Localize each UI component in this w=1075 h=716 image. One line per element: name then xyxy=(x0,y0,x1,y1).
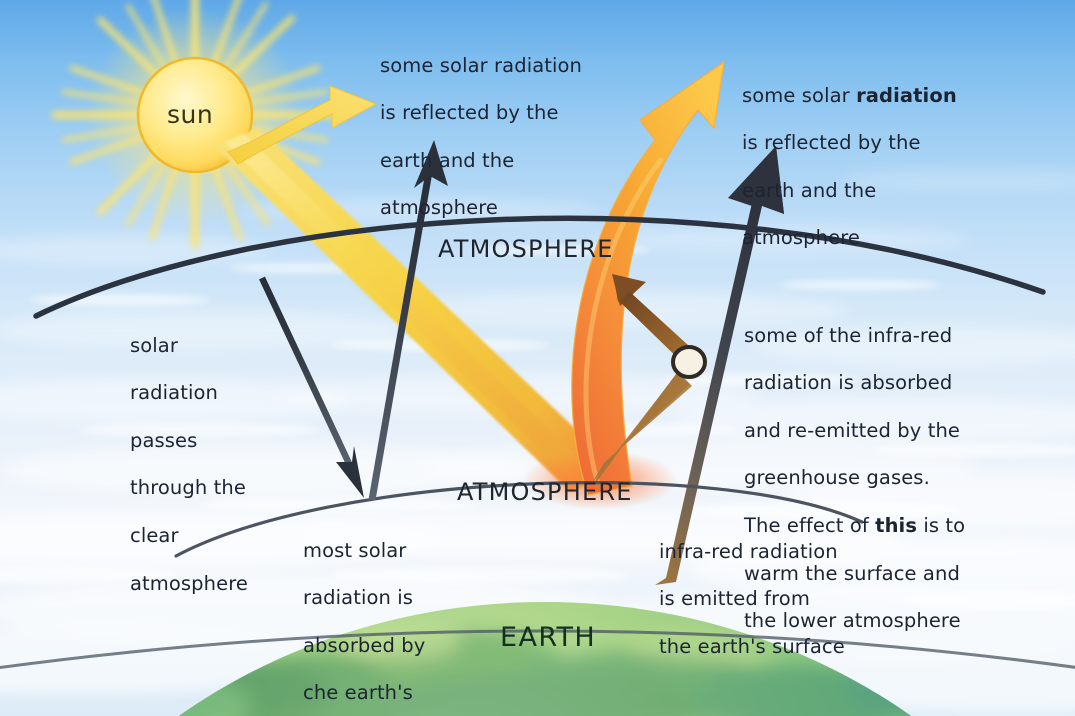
annotation-reflected-left-line1: some solar radiation xyxy=(380,54,582,78)
annotation-emitted-surface-line3: the earth's surface xyxy=(659,635,845,659)
solar-passes-down-arrow xyxy=(262,278,364,498)
greenhouse-effect-diagram: some solar radiation is reflected by the… xyxy=(0,0,1075,716)
annotation-passes-through: solar radiation passes through the clear… xyxy=(130,310,248,619)
annotation-reflected-right-line4: atmosphere xyxy=(742,226,957,250)
annotation-passes-through-line4: through the xyxy=(130,476,248,500)
annotation-reflected-right-emphasis: radiation xyxy=(856,84,957,107)
annotation-reflected-right-line3: earth and the xyxy=(742,179,957,203)
annotation-passes-through-line1: solar xyxy=(130,334,248,358)
lower-atmosphere-label: ATMOSPHERE xyxy=(457,478,633,507)
annotation-reflected-left: some solar radiation is reflected by the… xyxy=(380,30,582,244)
annotation-reflected-right-line2: is reflected by the xyxy=(742,131,957,155)
earth-label: EARTH xyxy=(500,622,596,655)
annotation-greenhouse-gases-line2: radiation is absorbed xyxy=(744,371,965,395)
annotation-reflected-left-line3: earth and the xyxy=(380,149,582,173)
sun-label: sun xyxy=(167,100,213,131)
annotation-emitted-surface-line2: is emitted from xyxy=(659,587,845,611)
annotation-emitted-surface-line1: infra-red radiation xyxy=(659,540,845,564)
annotation-reflected-left-line4: atmosphere xyxy=(380,196,582,220)
annotation-greenhouse-gases-line5-post: is to xyxy=(917,514,965,537)
annotation-emitted-surface: infra-red radiation is emitted from the … xyxy=(659,516,845,682)
annotation-absorbed-surface: most solar radiation is absorbed by che … xyxy=(303,515,425,716)
annotation-greenhouse-gases-line4: greenhouse gases. xyxy=(744,466,965,490)
annotation-reflected-left-line2: is reflected by the xyxy=(380,101,582,125)
annotation-passes-through-line2: radiation xyxy=(130,381,248,405)
annotation-absorbed-surface-line4: che earth's xyxy=(303,681,425,705)
annotation-passes-through-line5: clear xyxy=(130,524,248,548)
annotation-reflected-right: some solar radiation is reflected by the… xyxy=(742,60,957,274)
annotation-reflected-right-lead: some solar xyxy=(742,84,856,107)
annotation-absorbed-surface-line3: absorbed by xyxy=(303,634,425,658)
annotation-absorbed-surface-line2: radiation is xyxy=(303,586,425,610)
annotation-greenhouse-gases-line5-emphasis: this xyxy=(875,514,917,537)
upper-atmosphere-label: ATMOSPHERE xyxy=(438,235,614,264)
annotation-greenhouse-gases-line3: and re-emitted by the xyxy=(744,419,965,443)
annotation-passes-through-line6: atmosphere xyxy=(130,572,248,596)
annotation-passes-through-line3: passes xyxy=(130,429,248,453)
annotation-absorbed-surface-line1: most solar xyxy=(303,539,425,563)
annotation-greenhouse-gases-line1: some of the infra-red xyxy=(744,324,965,348)
annotation-reflected-right-line1: some solar radiation xyxy=(742,84,957,108)
